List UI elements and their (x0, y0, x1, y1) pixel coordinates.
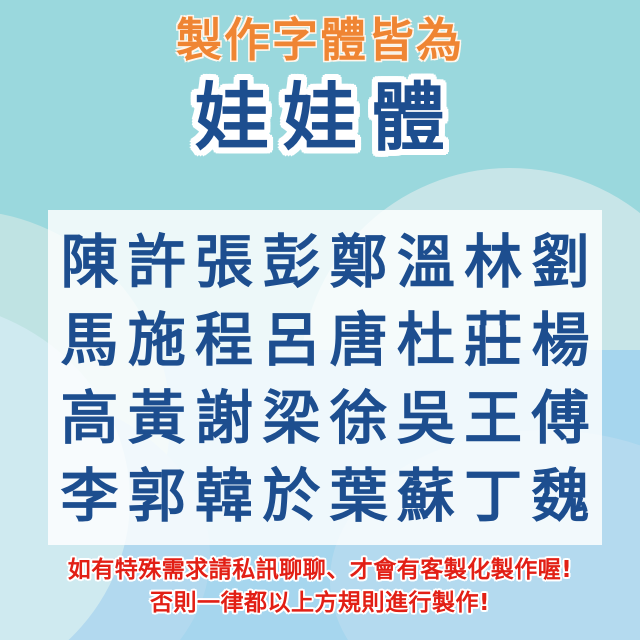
character-cell: 丁 (462, 465, 525, 527)
character-cell: 梁 (260, 387, 323, 449)
character-cell: 葉 (327, 465, 390, 527)
character-cell: 溫 (394, 231, 457, 293)
character-cell: 謝 (193, 387, 256, 449)
character-sample-panel: 陳 許 張 彭 鄭 溫 林 劉 馬 施 程 呂 唐 杜 莊 楊 高 黃 謝 梁 … (48, 210, 602, 545)
character-cell: 於 (260, 465, 323, 527)
character-cell: 黃 (125, 387, 188, 449)
character-row: 馬 施 程 呂 唐 杜 莊 楊 (48, 301, 602, 379)
character-cell: 馬 (58, 309, 121, 371)
character-cell: 鄭 (327, 231, 390, 293)
character-row: 高 黃 謝 梁 徐 吳 王 傅 (48, 379, 602, 457)
bottom-notice: 如有特殊需求請私訊聊聊、才會有客製化製作喔! 否則一律都以上方規則進行製作! (0, 554, 640, 620)
header-subtitle: 製作字體皆為 (0, 12, 640, 68)
character-cell: 韓 (193, 465, 256, 527)
character-cell: 張 (193, 231, 256, 293)
character-cell: 傅 (529, 387, 592, 449)
character-cell: 郭 (125, 465, 188, 527)
character-cell: 呂 (260, 309, 323, 371)
character-row: 陳 許 張 彭 鄭 溫 林 劉 (48, 223, 602, 301)
character-row: 李 郭 韓 於 葉 蘇 丁 魏 (48, 457, 602, 535)
character-cell: 魏 (529, 465, 592, 527)
character-cell: 程 (193, 309, 256, 371)
character-cell: 陳 (58, 231, 121, 293)
notice-line-1: 如有特殊需求請私訊聊聊、才會有客製化製作喔! (0, 554, 640, 587)
character-cell: 劉 (529, 231, 592, 293)
character-cell: 莊 (462, 309, 525, 371)
character-cell: 王 (462, 387, 525, 449)
character-cell: 楊 (529, 309, 592, 371)
character-cell: 唐 (327, 309, 390, 371)
notice-line-2: 否則一律都以上方規則進行製作! (0, 587, 640, 620)
character-cell: 吳 (394, 387, 457, 449)
character-cell: 李 (58, 465, 121, 527)
character-cell: 杜 (394, 309, 457, 371)
character-cell: 徐 (327, 387, 390, 449)
header-title: 娃娃體 (0, 74, 640, 162)
poster-header: 製作字體皆為 娃娃體 (0, 0, 640, 162)
character-cell: 彭 (260, 231, 323, 293)
poster-canvas: 製作字體皆為 娃娃體 陳 許 張 彭 鄭 溫 林 劉 馬 施 程 呂 唐 杜 莊… (0, 0, 640, 640)
character-cell: 施 (125, 309, 188, 371)
character-cell: 許 (125, 231, 188, 293)
character-cell: 高 (58, 387, 121, 449)
character-cell: 蘇 (394, 465, 457, 527)
character-cell: 林 (462, 231, 525, 293)
